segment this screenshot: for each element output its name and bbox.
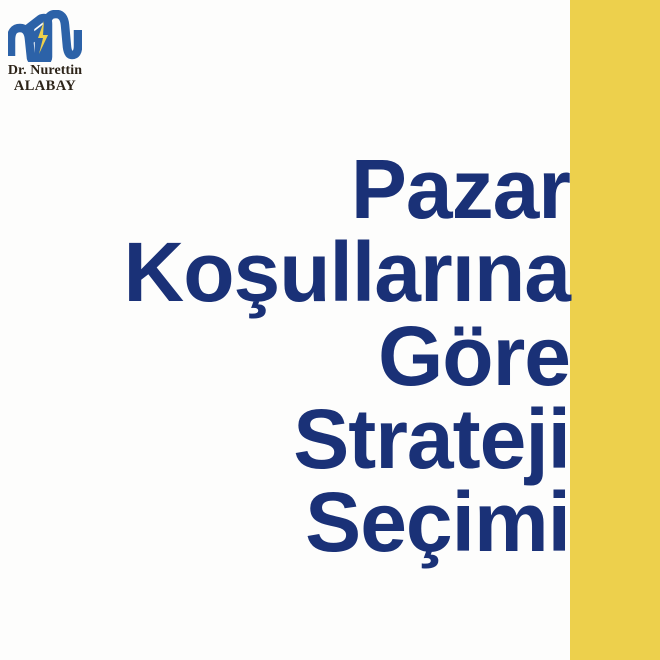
brand-logo-block: Dr. Nurettin ALABAY	[0, 10, 90, 94]
headline-line-1: Pazar	[20, 148, 570, 231]
headline-line-4: Strateji	[20, 398, 570, 481]
brand-accent-band	[570, 0, 660, 660]
brand-name-line-1: Dr. Nurettin	[0, 64, 90, 79]
wave-pulse-na-monogram-icon	[8, 10, 82, 62]
headline-line-5: Seçimi	[20, 481, 570, 564]
poster-canvas: Dr. Nurettin ALABAY Pazar Koşullarına Gö…	[0, 0, 660, 660]
page-title: Pazar Koşullarına Göre Strateji Seçimi	[20, 148, 570, 564]
headline-line-3: Göre	[20, 315, 570, 398]
headline-line-2: Koşullarına	[20, 231, 570, 314]
brand-name: Dr. Nurettin ALABAY	[0, 64, 90, 94]
brand-name-line-2: ALABAY	[0, 79, 90, 94]
